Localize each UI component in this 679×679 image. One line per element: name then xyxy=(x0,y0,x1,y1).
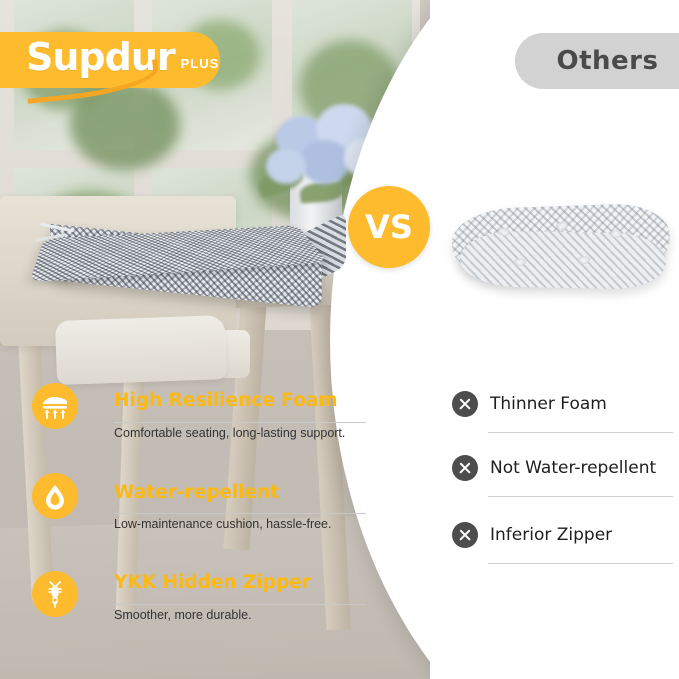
others-feature-label-3: Inferior Zipper xyxy=(490,525,612,545)
chair-pillow xyxy=(55,315,227,385)
others-badge: Others xyxy=(515,33,679,89)
feature-icon-badge-2 xyxy=(32,473,78,519)
feature-divider-2 xyxy=(114,513,366,514)
others-divider-1 xyxy=(488,432,673,433)
tuft-stitch xyxy=(578,256,590,264)
feature-divider-1 xyxy=(114,422,366,423)
hydrangea-bloom xyxy=(300,140,350,184)
others-label: Others xyxy=(557,46,659,76)
brand-suffix: PLUS xyxy=(181,56,220,76)
feature-subtitle-1: Comfortable seating, long-lasting suppor… xyxy=(114,426,345,440)
hydrangea-bloom xyxy=(266,148,306,184)
x-circle-icon xyxy=(452,455,478,481)
right-white-panel xyxy=(430,0,679,679)
foam-cushion-icon xyxy=(40,392,70,420)
feature-icon-badge-1 xyxy=(32,383,78,429)
brand-name: Supdur xyxy=(26,38,175,76)
zipper-icon xyxy=(42,579,68,609)
others-feature-label-1: Thinner Foam xyxy=(490,394,607,414)
others-divider-3 xyxy=(488,563,673,564)
feature-title-1: High Resilience Foam xyxy=(114,390,338,411)
feature-subtitle-3: Smoother, more durable. xyxy=(114,608,252,622)
others-feature-2: Not Water-repellent xyxy=(452,455,656,481)
product-cushion-supdur xyxy=(34,182,344,307)
feature-subtitle-2: Low-maintenance cushion, hassle-free. xyxy=(114,517,331,531)
x-circle-icon xyxy=(452,391,478,417)
tuft-stitch xyxy=(498,228,510,236)
water-drop-icon xyxy=(42,482,68,510)
tufted-cushion-lower xyxy=(460,230,667,290)
product-cushion-others xyxy=(452,196,672,296)
comparison-infographic: Supdur PLUS Others VS xyxy=(0,0,679,679)
brand-logo: Supdur PLUS xyxy=(26,38,219,76)
x-circle-icon xyxy=(452,522,478,548)
feature-title-2: Water-repellent xyxy=(114,482,279,503)
vs-badge: VS xyxy=(348,186,430,268)
others-feature-3: Inferior Zipper xyxy=(452,522,612,548)
others-feature-label-2: Not Water-repellent xyxy=(490,458,656,478)
feature-divider-3 xyxy=(114,604,366,605)
others-feature-1: Thinner Foam xyxy=(452,391,607,417)
garden-foliage xyxy=(70,80,180,170)
feature-title-3: YKK Hidden Zipper xyxy=(114,572,311,593)
tuft-stitch xyxy=(610,230,622,238)
tuft-stitch xyxy=(514,258,526,266)
feature-icon-badge-3 xyxy=(32,571,78,617)
tuft-stitch xyxy=(556,222,568,230)
vs-label: VS xyxy=(365,208,413,246)
others-divider-2 xyxy=(488,496,673,497)
